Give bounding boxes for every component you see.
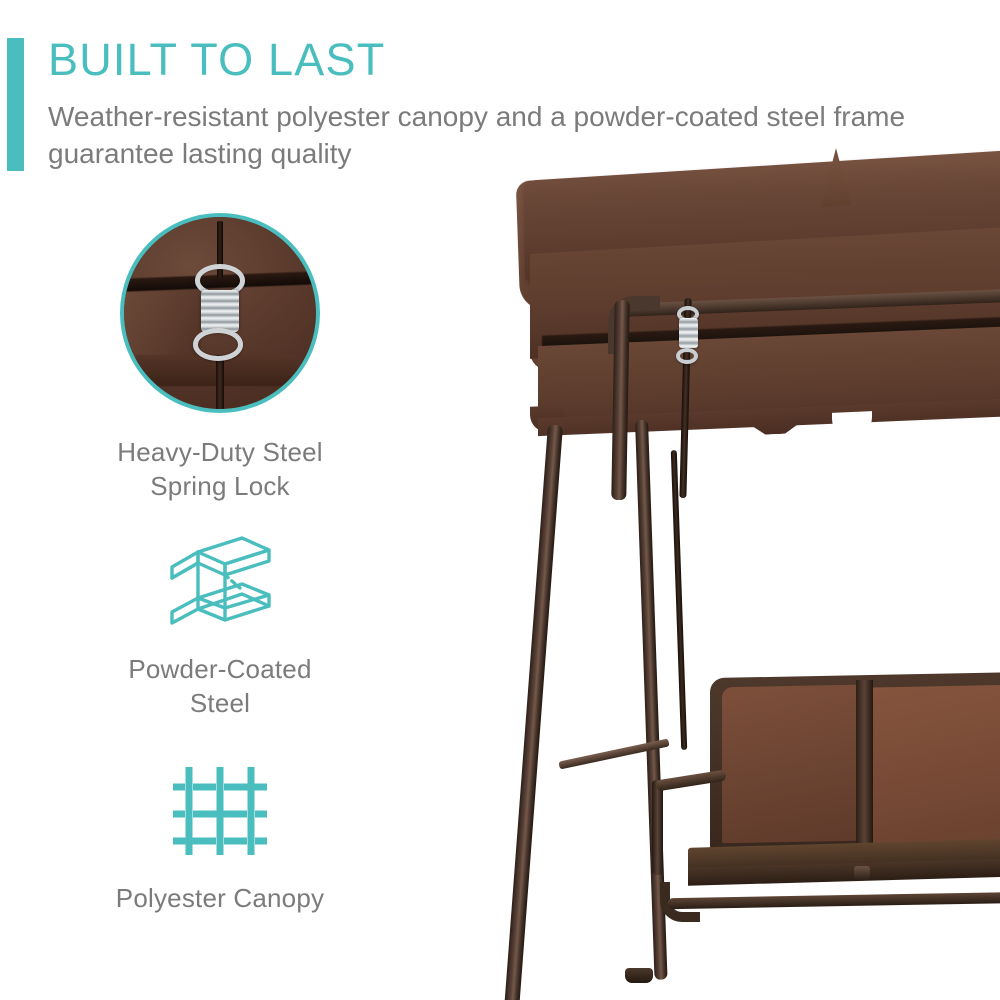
feature-caption-line2: Spring Lock [0, 469, 440, 503]
canopy-strap-bottom [216, 355, 224, 409]
accent-bar [7, 38, 24, 171]
feature-caption-line1: Polyester Canopy [0, 881, 440, 915]
i-beam-icon [168, 530, 272, 628]
feature-caption-line2: Steel [0, 686, 440, 720]
valance-center-notch [832, 411, 872, 439]
backrest-center-divider [856, 680, 873, 850]
spring-lock-photo [124, 217, 316, 409]
feature-item-polyester-canopy: Polyester Canopy [0, 765, 440, 915]
feature-item-powder-coated-steel: Powder-Coated Steel [0, 530, 440, 720]
leg-foot-cap-rear [625, 968, 653, 983]
feature-item-spring-lock: Heavy-Duty Steel Spring Lock [0, 213, 440, 503]
steel-ring-lower [193, 328, 243, 361]
woven-mesh-icon [171, 765, 269, 857]
armrest-post [652, 780, 663, 875]
bench-bottom-rail [668, 892, 1000, 909]
feature-caption-line1: Powder-Coated [0, 652, 440, 686]
hook-ring-lower [676, 348, 698, 364]
seat-hinge [854, 866, 870, 880]
frame-vertical-post [611, 300, 629, 500]
spring-lock-coil [679, 318, 698, 348]
feature-caption-line1: Heavy-Duty Steel [0, 435, 440, 469]
product-image [430, 120, 1000, 1000]
a-frame-front-leg [499, 424, 563, 1000]
page-title: BUILT TO LAST [48, 32, 988, 88]
spring-coil [201, 290, 239, 332]
feature-graphic-canvas: BUILT TO LAST Weather-resistant polyeste… [0, 0, 1000, 1000]
backrest-mesh-left [722, 685, 859, 844]
backrest-mesh-right [872, 684, 1000, 843]
spring-lock-closeup-inset [120, 213, 320, 413]
